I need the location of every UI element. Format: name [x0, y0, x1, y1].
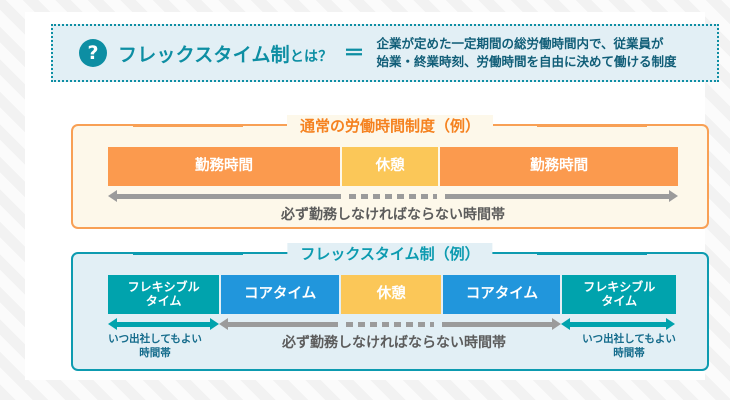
bar-segment-flexible-morning: フレキシブル タイム [108, 275, 219, 314]
arrow-shaft-solid-left [227, 322, 338, 327]
page-title: フレックスタイム制とは？ [118, 40, 332, 67]
page-title-main: フレックスタイム制 [118, 44, 290, 66]
title-rule-right [537, 125, 647, 127]
arrow-flexible-left [108, 318, 219, 330]
title-rule-right [537, 253, 647, 255]
arrow-row-normal [108, 189, 678, 203]
caption-mandatory-core: 必ず勤務しなければならない時間帯 [263, 334, 525, 352]
bar-row-flextime: フレキシブル タイム コアタイム 休憩 コアタイム フレキシブル タイム [108, 275, 678, 314]
arrow-mandatory-normal [108, 190, 678, 202]
arrow-head-right-icon [669, 190, 678, 202]
bar-segment-work-afternoon: 勤務時間 [440, 147, 678, 186]
panel-normal-title: 通常の労働時間制度（例） [287, 115, 493, 136]
bar-segment-flexible-evening: フレキシブル タイム [562, 275, 676, 314]
bar-segment-work-morning: 勤務時間 [108, 147, 340, 186]
caption-flexible-right: いつ出社してもよい 時間帯 [569, 333, 689, 360]
arrow-head-left-icon [108, 318, 117, 330]
arrow-shaft [569, 322, 667, 327]
caption-mandatory-normal: 必ず勤務しなければならない時間帯 [108, 206, 678, 224]
arrow-flexible-right [561, 318, 675, 330]
title-rule-left [133, 125, 243, 127]
question-mark-icon: ? [79, 39, 107, 67]
header-description: 企業が定めた一定期間の総労働時間内で、従業員が 始業・終業時刻、労働時間を自由に… [376, 35, 676, 71]
panel-flextime: フレックスタイム制（例） フレキシブル タイム コアタイム 休憩 コアタイム フ… [71, 252, 709, 371]
bar-segment-core-morning: コアタイム [221, 275, 339, 314]
arrow-head-right-icon [552, 318, 561, 330]
arrow-shaft [116, 322, 211, 327]
panel-flextime-title: フレックスタイム制（例） [287, 243, 492, 264]
arrow-shaft-solid-left [116, 194, 341, 199]
caption-flexible-left: いつ出社してもよい 時間帯 [95, 333, 215, 360]
bar-segment-core-afternoon: コアタイム [443, 275, 560, 314]
arrow-shaft-solid-right [445, 194, 670, 199]
arrow-head-left-icon [108, 190, 117, 202]
arrow-head-left-icon [219, 318, 228, 330]
arrow-shaft-dashed [349, 194, 437, 199]
arrow-head-left-icon [561, 318, 570, 330]
panel-normal-working-hours: 通常の労働時間制度（例） 勤務時間 休憩 勤務時間 必ず勤務しなければならない時… [71, 124, 709, 229]
header-callout: ? フレックスタイム制とは？ ＝ 企業が定めた一定期間の総労働時間内で、従業員が… [51, 24, 719, 82]
arrow-row-flextime [108, 317, 678, 331]
arrow-head-right-icon [666, 318, 675, 330]
arrow-shaft-solid-right [442, 322, 553, 327]
arrow-head-right-icon [210, 318, 219, 330]
title-rule-left [133, 253, 243, 255]
bar-segment-break: 休憩 [342, 147, 438, 186]
bar-segment-break: 休憩 [341, 275, 441, 314]
arrow-shaft-dashed [346, 322, 435, 327]
bar-row-normal: 勤務時間 休憩 勤務時間 [108, 147, 678, 186]
equals-sign: ＝ [343, 43, 364, 64]
infographic-canvas: ? フレックスタイム制とは？ ＝ 企業が定めた一定期間の総労働時間内で、従業員が… [25, 12, 705, 380]
page-title-suffix: とは？ [290, 49, 333, 65]
arrow-mandatory-core [219, 318, 561, 330]
